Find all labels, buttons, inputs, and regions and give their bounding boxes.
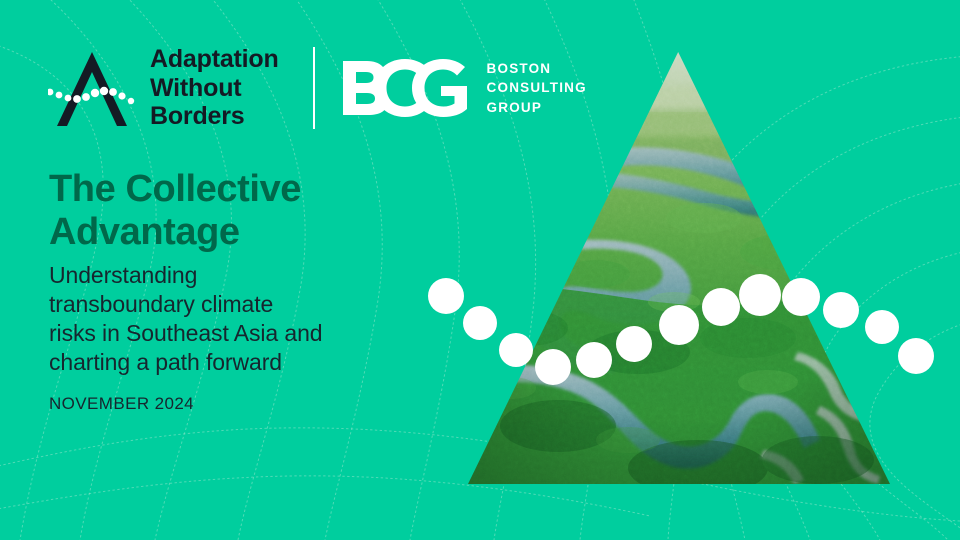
arc-dot bbox=[659, 305, 699, 345]
bcg-wordmark-line3: GROUP bbox=[487, 98, 587, 118]
arc-dot bbox=[898, 338, 934, 374]
page-title: The Collective Advantage bbox=[49, 168, 449, 253]
arc-dot bbox=[865, 310, 899, 344]
arc-dot bbox=[823, 292, 859, 328]
awb-wordmark: Adaptation Without Borders bbox=[150, 45, 279, 131]
arc-dot bbox=[782, 278, 820, 316]
arc-dot bbox=[616, 326, 652, 362]
title-slide: Adaptation Without Borders BOSTON CONSUL… bbox=[0, 0, 960, 540]
bcg-wordmark: BOSTON CONSULTING GROUP bbox=[487, 59, 587, 118]
awb-wordmark-line1: Adaptation bbox=[150, 45, 279, 74]
arc-dot bbox=[702, 288, 740, 326]
bcg-wordmark-line1: BOSTON bbox=[487, 59, 587, 79]
arc-dot bbox=[535, 349, 571, 385]
adaptation-without-borders-logo[interactable]: Adaptation Without Borders bbox=[48, 45, 279, 131]
logo-divider bbox=[313, 47, 315, 129]
arc-dot bbox=[499, 333, 533, 367]
arc-dot bbox=[463, 306, 497, 340]
headline-block: The Collective Advantage Understanding t… bbox=[49, 168, 449, 377]
chevron-dotted-arc-icon bbox=[48, 46, 136, 130]
publication-date: NOVEMBER 2024 bbox=[49, 394, 194, 414]
arc-dot bbox=[576, 342, 612, 378]
awb-wordmark-line2: Without bbox=[150, 74, 279, 103]
arc-dot bbox=[739, 274, 781, 316]
awb-wordmark-line3: Borders bbox=[150, 102, 279, 131]
bcg-monogram-icon bbox=[341, 57, 469, 119]
logo-row: Adaptation Without Borders BOSTON CONSUL… bbox=[48, 34, 587, 142]
arc-dot bbox=[428, 278, 464, 314]
page-subtitle: Understanding transboundary climate risk… bbox=[49, 261, 449, 377]
bcg-wordmark-line2: CONSULTING bbox=[487, 78, 587, 98]
boston-consulting-group-logo[interactable]: BOSTON CONSULTING GROUP bbox=[341, 57, 587, 119]
